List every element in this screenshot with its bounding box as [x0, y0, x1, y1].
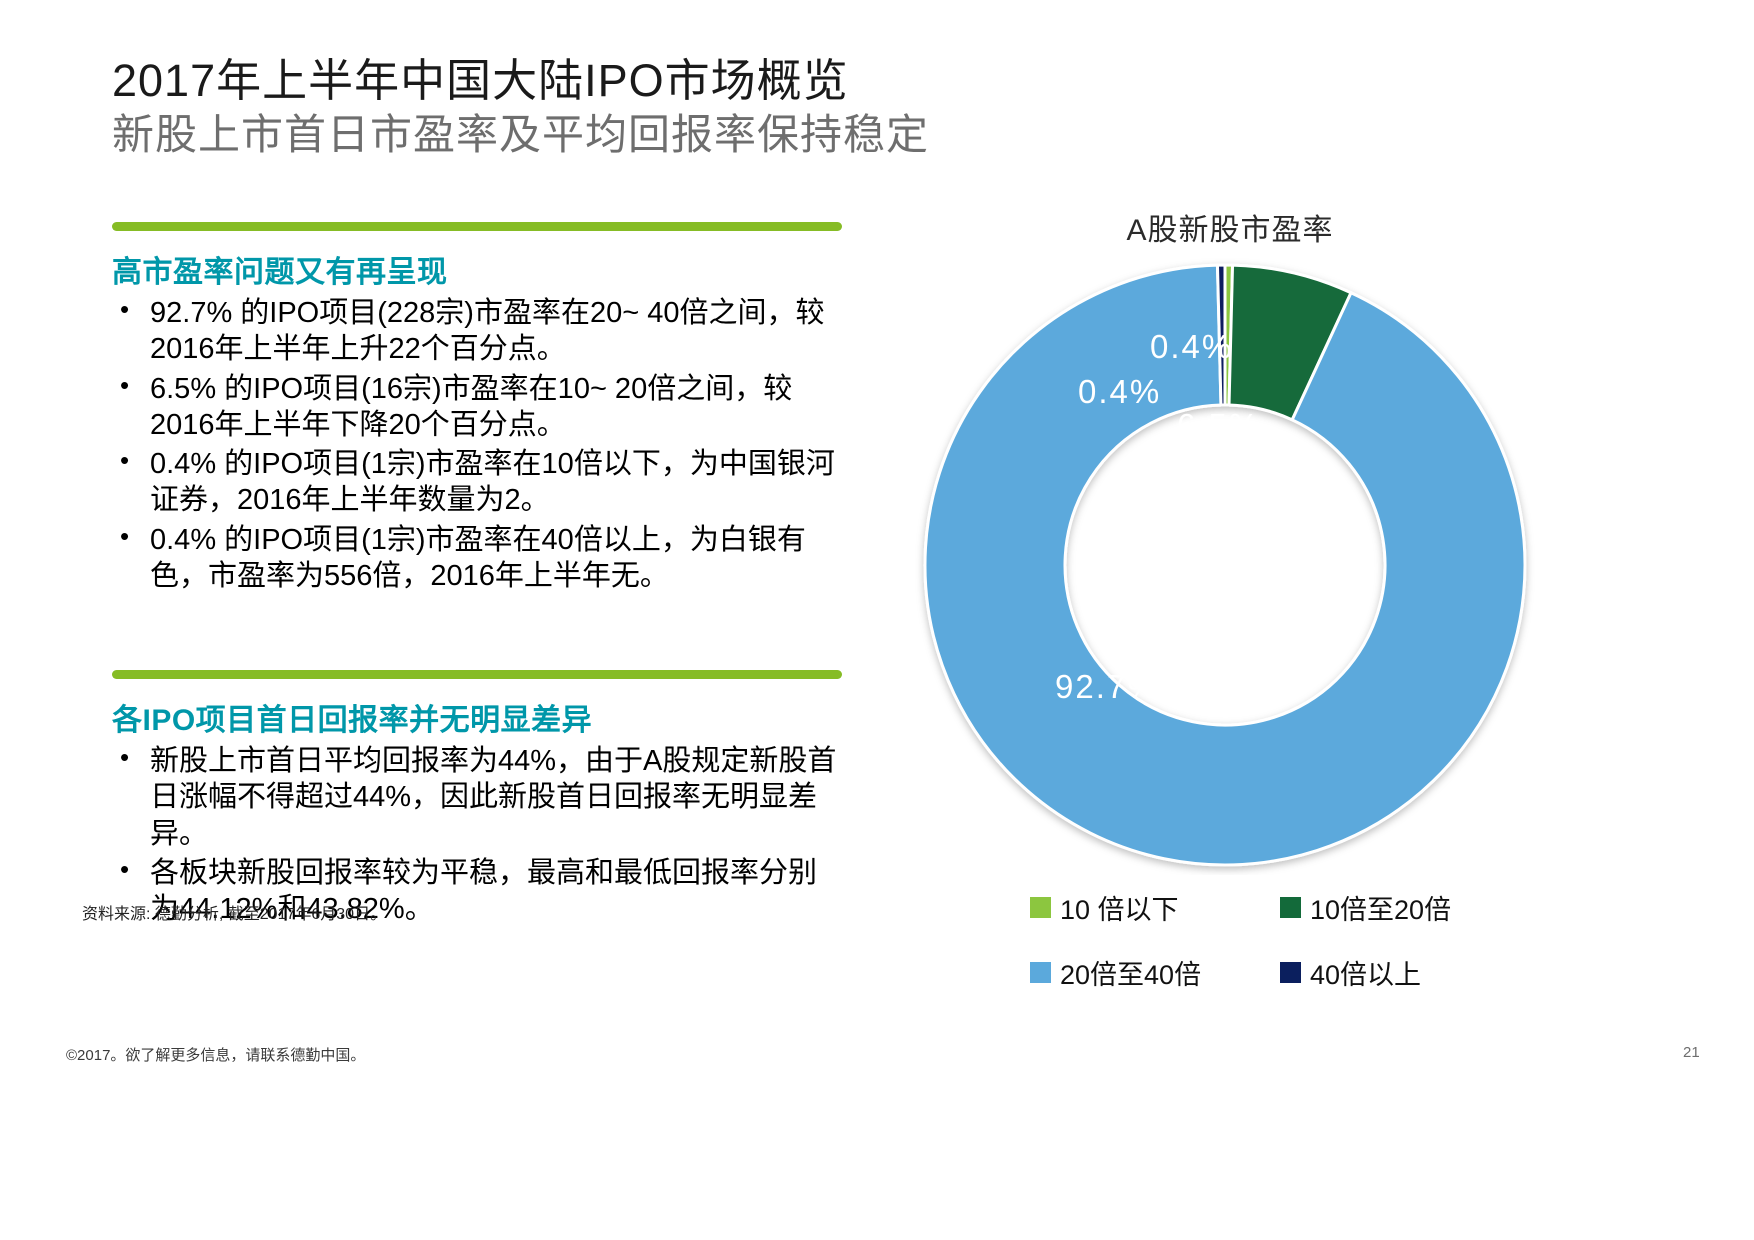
section-one-heading: 高市盈率问题又有再呈现	[112, 247, 842, 291]
chart-title: A股新股市盈率	[880, 205, 1580, 249]
chart-panel: A股新股市盈率 92.7% 0.4% 0.4% 6.5%	[880, 195, 1580, 895]
section-two-heading: 各IPO项目首日回报率并无明显差异	[112, 695, 842, 739]
slice-label-10-20: 6.5%	[1177, 407, 1260, 445]
chart-legend: 10 倍以下 10倍至20倍 20倍至40倍 40倍以上	[1030, 888, 1550, 992]
slice-label-10-under: 0.4%	[1078, 373, 1161, 411]
page-title: 2017年上半年中国大陆IPO市场概览	[112, 58, 1212, 103]
legend-label: 40倍以上	[1310, 953, 1421, 992]
section-first-day-return: 各IPO项目首日回报率并无明显差异 新股上市首日平均回报率为44%，由于A股规定…	[112, 670, 842, 927]
legend-label: 20倍至40倍	[1060, 953, 1201, 992]
legend-swatch-icon	[1280, 897, 1301, 918]
list-item: 0.4% 的IPO项目(1宗)市盈率在10倍以下，为中国银河证券，2016年上半…	[112, 446, 842, 519]
list-item: 92.7% 的IPO项目(228宗)市盈率在20~ 40倍之间，较2016年上半…	[112, 295, 842, 368]
slice-label-20-40: 92.7%	[1055, 668, 1159, 706]
legend-swatch-icon	[1030, 897, 1051, 918]
footer-copyright: ©2017。欲了解更多信息，请联系德勤中国。	[66, 1044, 365, 1065]
section-high-pe: 高市盈率问题又有再呈现 92.7% 的IPO项目(228宗)市盈率在20~ 40…	[112, 222, 842, 594]
source-note: 资料来源: 德勤分析, 截至2017年6月30日。	[82, 900, 386, 924]
list-item: 0.4% 的IPO项目(1宗)市盈率在40倍以上，为白银有色，市盈率为556倍，…	[112, 522, 842, 595]
section-divider-rule	[112, 222, 842, 231]
legend-item-10-under[interactable]: 10 倍以下	[1030, 888, 1280, 927]
left-content-column: 高市盈率问题又有再呈现 92.7% 的IPO项目(228宗)市盈率在20~ 40…	[112, 222, 842, 930]
slice-label-40-over: 0.4%	[1150, 328, 1233, 366]
list-item: 6.5% 的IPO项目(16宗)市盈率在10~ 20倍之间，较2016年上半年下…	[112, 371, 842, 444]
page-subtitle: 新股上市首日市盈率及平均回报率保持稳定	[112, 113, 1212, 157]
legend-label: 10倍至20倍	[1310, 888, 1451, 927]
legend-item-20-40[interactable]: 20倍至40倍	[1030, 953, 1280, 992]
page-number: 21	[1683, 1044, 1700, 1061]
list-item: 新股上市首日平均回报率为44%，由于A股规定新股首日涨幅不得超过44%，因此新股…	[112, 743, 842, 852]
section-one-bullet-list: 92.7% 的IPO项目(228宗)市盈率在20~ 40倍之间，较2016年上半…	[112, 295, 842, 594]
legend-swatch-icon	[1030, 962, 1051, 983]
section-divider-rule	[112, 670, 842, 679]
legend-swatch-icon	[1280, 962, 1301, 983]
legend-item-40-over[interactable]: 40倍以上	[1280, 953, 1530, 992]
legend-item-10-20[interactable]: 10倍至20倍	[1280, 888, 1530, 927]
legend-label: 10 倍以下	[1060, 888, 1179, 927]
donut-chart: 92.7% 0.4% 0.4% 6.5%	[915, 255, 1535, 875]
title-block: 2017年上半年中国大陆IPO市场概览 新股上市首日市盈率及平均回报率保持稳定	[112, 58, 1212, 157]
